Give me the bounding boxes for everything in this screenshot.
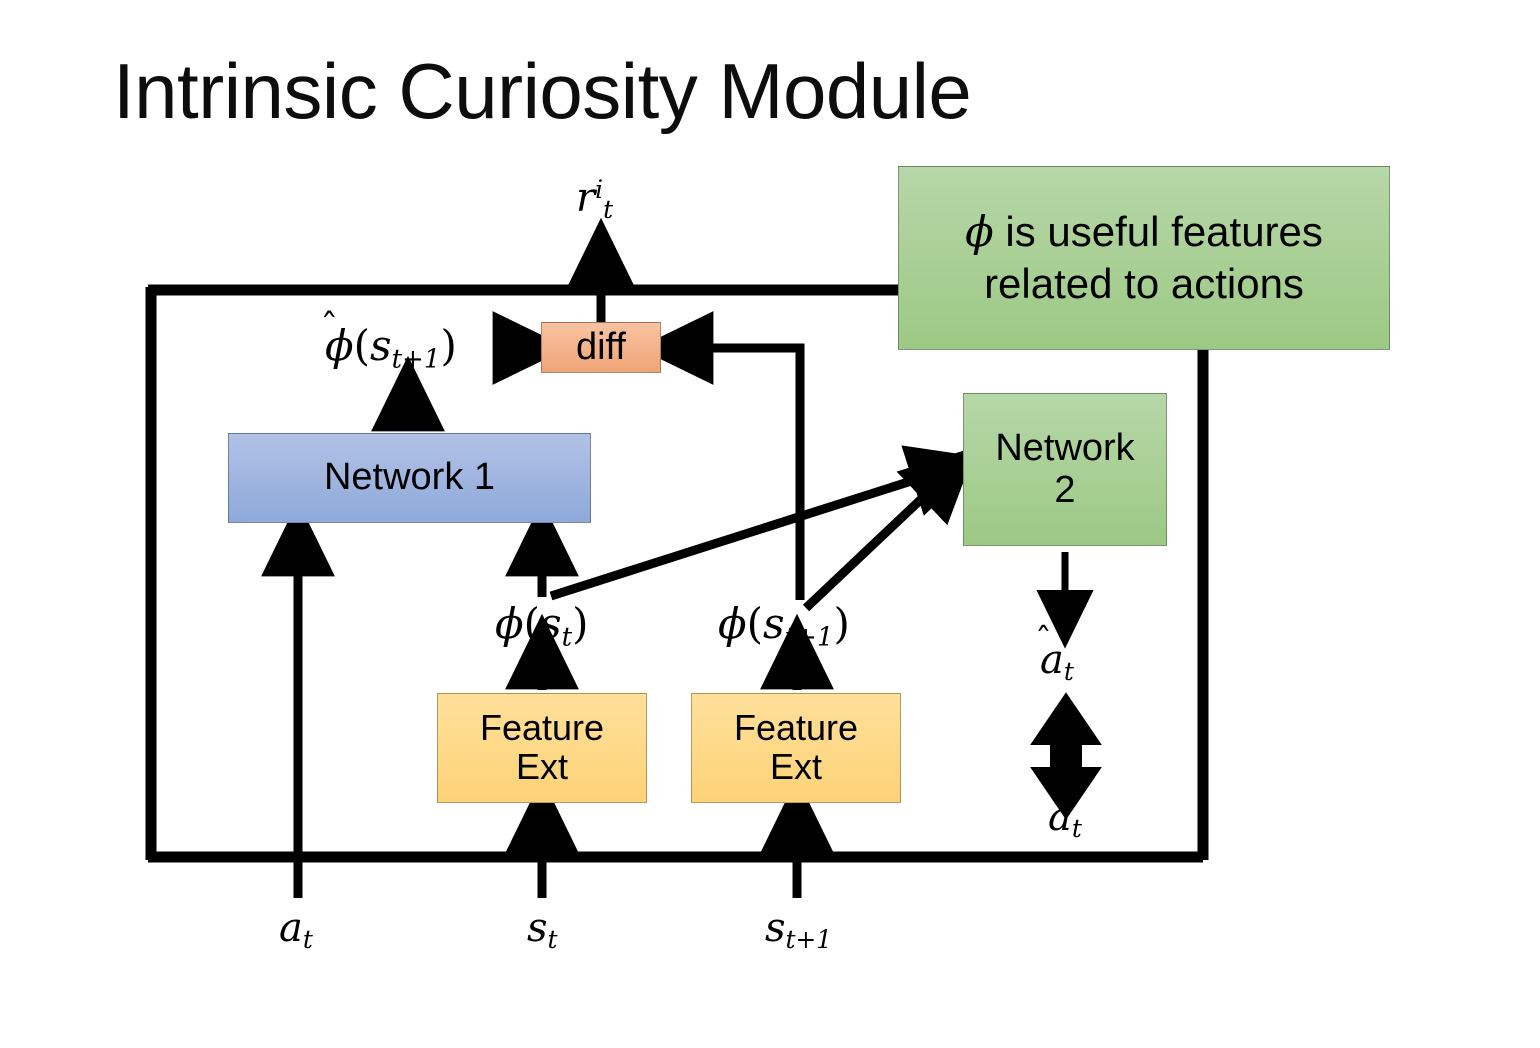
a-t-compare-sub: t [1072, 814, 1082, 843]
a-t-compare-base: a [1048, 794, 1072, 840]
label-phi-s-t1: ϕ(st+1) [718, 603, 850, 650]
input-s-t-base: s [527, 905, 548, 951]
input-s-t1-base: s [765, 905, 786, 951]
phi-symbol: ϕ [965, 207, 994, 256]
label-a-t-compare: at [1048, 797, 1082, 842]
page-title: Intrinsic Curiosity Module [113, 52, 971, 130]
label-a-hat-t: ̂at [1040, 640, 1074, 685]
phi-symbol: ϕ [495, 599, 524, 648]
node-feature-ext-2-line2: Ext [734, 748, 858, 787]
label-input-s-t: st [527, 908, 558, 953]
node-network2[interactable]: Network 2 [963, 393, 1167, 546]
a-hat-glyph: ̂a [1040, 640, 1064, 680]
node-diff-label: diff [576, 327, 626, 368]
label-intrinsic-reward: rit [576, 178, 613, 223]
node-network2-label-line2: 2 [995, 470, 1134, 511]
note-callout-line1-rest: is useful features [994, 208, 1323, 255]
paren-close: ) [833, 599, 849, 648]
note-callout: ϕ is useful features related to actions [898, 166, 1390, 350]
paren-open: ( [354, 321, 370, 370]
phi-hat-base: ϕ [325, 321, 354, 370]
phi-hat-glyph: ̂ϕ [325, 325, 354, 367]
label-input-s-t1: st+1 [765, 908, 832, 953]
node-network2-label-line1: Network [995, 428, 1134, 469]
phi-symbol: ϕ [718, 599, 747, 648]
label-intrinsic-reward-sub: t [603, 195, 613, 224]
node-feature-ext-1-line2: Ext [480, 748, 604, 787]
input-s-t1-sub: t+1 [786, 925, 833, 954]
phi-s-t1-base: s [763, 599, 785, 648]
node-network1-label: Network 1 [324, 457, 495, 498]
phi-s-t1-sub: t+1 [785, 622, 834, 652]
label-phi-hat-s-t1: ̂ϕ(st+1) [325, 325, 457, 372]
label-intrinsic-reward-base: r [576, 175, 595, 221]
edge-phi-s-t1-to-diff [672, 348, 800, 600]
label-phi-s-t: ϕ(st) [495, 603, 588, 650]
diagram-canvas: Intrinsic Curiosity Module diff Network … [0, 0, 1540, 1048]
phi-hat-arg-sub: t+1 [392, 344, 441, 374]
input-s-t-sub: t [548, 925, 558, 954]
node-network2-label: Network 2 [995, 428, 1134, 510]
node-feature-ext-1-label: Feature Ext [480, 709, 604, 787]
label-input-a-t: at [279, 908, 313, 953]
node-feature-ext-2[interactable]: Feature Ext [691, 693, 901, 803]
phi-s-t-base: s [540, 599, 562, 648]
node-diff[interactable]: diff [541, 322, 661, 373]
paren-open: ( [524, 599, 540, 648]
node-feature-ext-2-line1: Feature [734, 709, 858, 748]
phi-hat-arg-base: s [370, 321, 392, 370]
paren-close: ) [572, 599, 588, 648]
node-feature-ext-1[interactable]: Feature Ext [437, 693, 647, 803]
label-intrinsic-reward-sup: i [595, 175, 603, 204]
note-callout-line1: ϕ is useful features [965, 206, 1323, 259]
paren-close: ) [440, 321, 456, 370]
node-feature-ext-1-line1: Feature [480, 709, 604, 748]
input-a-t-sub: t [303, 925, 313, 954]
a-hat-base: a [1040, 637, 1064, 683]
a-hat-sub: t [1064, 657, 1074, 686]
phi-s-t-sub: t [562, 622, 572, 652]
note-callout-text: ϕ is useful features related to actions [965, 206, 1323, 311]
paren-open: ( [747, 599, 763, 648]
node-feature-ext-2-label: Feature Ext [734, 709, 858, 787]
diagram-vector-layer [0, 0, 1540, 1048]
note-callout-line2: related to actions [965, 258, 1323, 311]
node-network1[interactable]: Network 1 [228, 433, 591, 523]
input-a-t-base: a [279, 905, 303, 951]
